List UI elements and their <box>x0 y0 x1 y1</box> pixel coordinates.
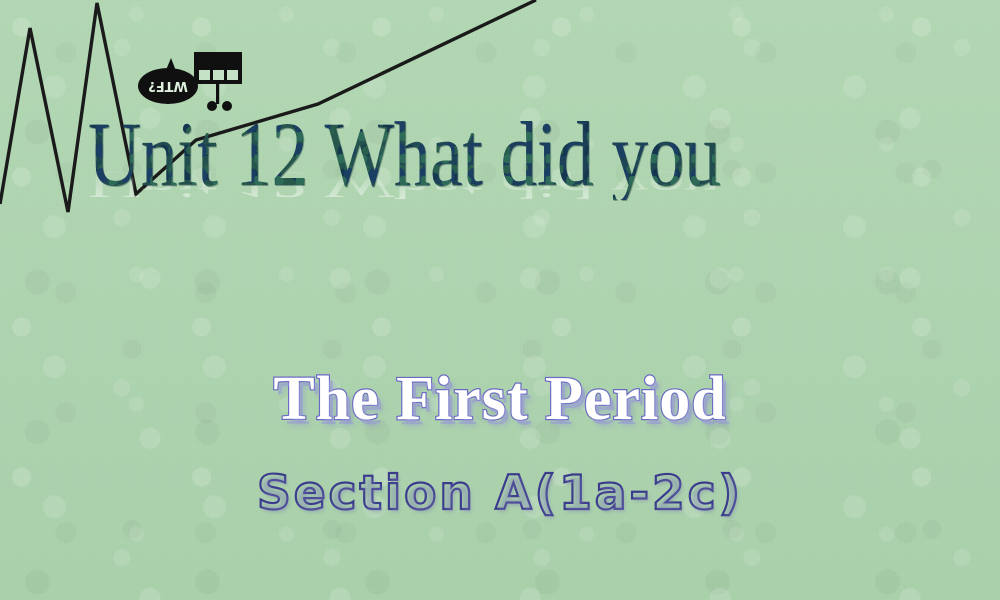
slide-subtitle: The First Period <box>0 368 1000 430</box>
slide-title-block: Unit 12 What did you do last weekend? Un… <box>88 108 878 288</box>
presentation-slide: WTF? Unit 12 What did you do last weeken… <box>0 0 1000 600</box>
slide-title: Unit 12 What did you do last weekend? <box>88 108 720 200</box>
billboard-sign-icon <box>194 52 242 104</box>
slide-section-label: Section A(1a-2c) <box>0 470 1000 517</box>
speech-bubble-label: WTF? <box>148 78 188 93</box>
speech-bubble: WTF? <box>138 58 198 104</box>
